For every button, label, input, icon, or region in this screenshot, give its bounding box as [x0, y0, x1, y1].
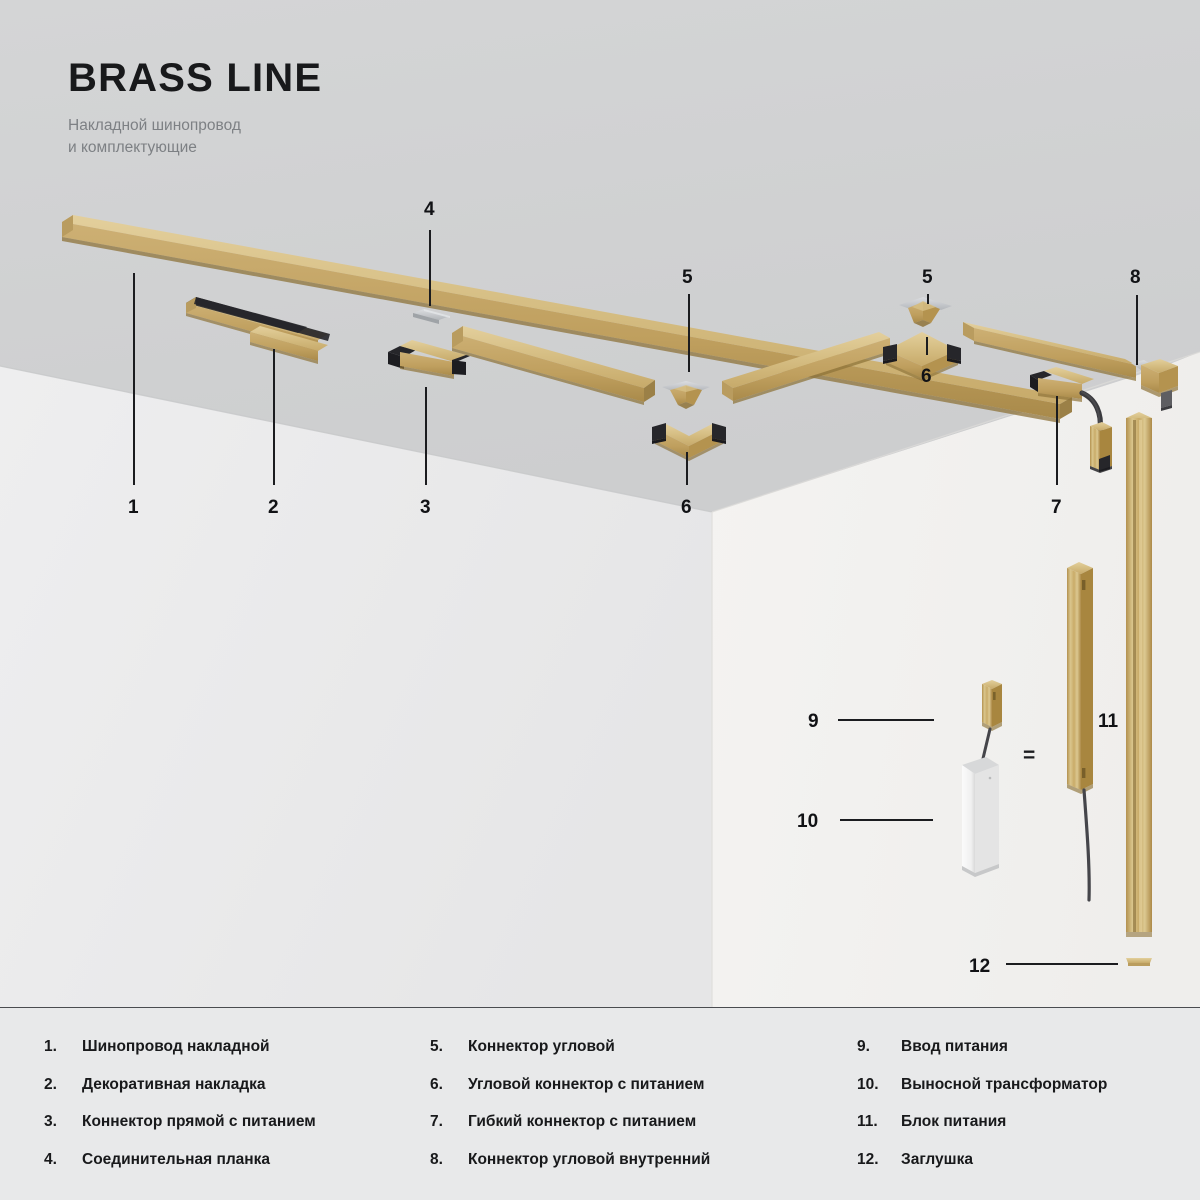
- leader-line-6a: [686, 452, 688, 485]
- legend-item: 7. Гибкий коннектор с питанием: [430, 1113, 840, 1151]
- legend-label: Декоративная накладка: [82, 1076, 266, 1094]
- legend-item: 5. Коннектор угловой: [430, 1038, 840, 1076]
- page-title: BRASS LINE: [68, 58, 322, 98]
- legend-label: Коннектор прямой с питанием: [82, 1113, 316, 1131]
- legend-item: 6. Угловой коннектор с питанием: [430, 1076, 840, 1114]
- callout-6a: 6: [681, 498, 692, 517]
- legend-number: 3.: [44, 1113, 82, 1131]
- legend-item: 2. Декоративная накладка: [44, 1076, 415, 1114]
- leader-line-4: [429, 230, 431, 306]
- leader-line-6b: [926, 337, 928, 355]
- legend-item: 8. Коннектор угловой внутренний: [430, 1151, 840, 1189]
- callout-12: 12: [969, 957, 990, 976]
- equals-sign: =: [1023, 745, 1035, 766]
- legend-label: Коннектор угловой: [468, 1038, 615, 1056]
- legend-item: 1. Шинопровод накладной: [44, 1038, 415, 1076]
- legend-number: 7.: [430, 1113, 468, 1131]
- callout-9: 9: [808, 712, 819, 731]
- legend-label: Коннектор угловой внутренний: [468, 1151, 710, 1169]
- legend-label: Ввод питания: [901, 1038, 1008, 1056]
- leader-line-5a: [688, 294, 690, 372]
- legend-label: Соединительная планка: [82, 1151, 270, 1169]
- leader-line-7: [1056, 396, 1058, 485]
- callout-3: 3: [420, 498, 431, 517]
- legend-number: 12.: [857, 1151, 901, 1169]
- callout-5b: 5: [922, 268, 933, 287]
- legend-column-2: 5. Коннектор угловой 6. Угловой коннекто…: [415, 1038, 840, 1200]
- part-end-cap: [1126, 958, 1152, 966]
- callout-1: 1: [128, 498, 139, 517]
- callout-5a: 5: [682, 268, 693, 287]
- callout-8: 8: [1130, 268, 1141, 287]
- legend-item: 4. Соединительная планка: [44, 1151, 415, 1189]
- legend-number: 1.: [44, 1038, 82, 1056]
- legend-column-1: 1. Шинопровод накладной 2. Декоративная …: [0, 1038, 415, 1200]
- legend-number: 4.: [44, 1151, 82, 1169]
- legend-item: 10. Выносной трансформатор: [857, 1076, 1200, 1114]
- leader-line-1: [133, 273, 135, 485]
- legend-label: Заглушка: [901, 1151, 973, 1169]
- callout-11: 11: [1098, 712, 1118, 731]
- leader-line-8: [1136, 295, 1138, 365]
- legend-number: 2.: [44, 1076, 82, 1094]
- legend-column-3: 9. Ввод питания 10. Выносной трансформат…: [840, 1038, 1200, 1200]
- legend-label: Угловой коннектор с питанием: [468, 1076, 704, 1094]
- leader-line-3: [425, 387, 427, 485]
- legend-label: Выносной трансформатор: [901, 1076, 1107, 1094]
- callout-7: 7: [1051, 498, 1062, 517]
- leader-line-9: [838, 719, 934, 721]
- leader-line-5b: [927, 294, 929, 304]
- legend-number: 11.: [857, 1113, 901, 1131]
- legend-number: 8.: [430, 1151, 468, 1169]
- legend-item: 11. Блок питания: [857, 1113, 1200, 1151]
- legend-label: Блок питания: [901, 1113, 1006, 1131]
- leader-line-10: [840, 819, 933, 821]
- legend-number: 10.: [857, 1076, 901, 1094]
- poster-canvas: BRASS LINE Накладной шинопровод и компле…: [0, 0, 1200, 1200]
- callout-6b: 6: [921, 367, 932, 386]
- callout-4: 4: [424, 200, 435, 219]
- legend-item: 12. Заглушка: [857, 1151, 1200, 1189]
- page-subtitle: Накладной шинопровод и комплектующие: [68, 115, 322, 160]
- leader-line-2: [273, 349, 275, 485]
- legend-number: 9.: [857, 1038, 901, 1056]
- leader-line-12: [1006, 963, 1118, 965]
- callout-10: 10: [797, 812, 818, 831]
- legend-item: 3. Коннектор прямой с питанием: [44, 1113, 415, 1151]
- legend-number: 5.: [430, 1038, 468, 1056]
- callout-2: 2: [268, 498, 279, 517]
- header-block: BRASS LINE Накладной шинопровод и компле…: [68, 58, 322, 160]
- part-track-rail-vertical: [1126, 412, 1152, 937]
- legend-label: Гибкий коннектор с питанием: [468, 1113, 696, 1131]
- legend-label: Шинопровод накладной: [82, 1038, 270, 1056]
- legend-number: 6.: [430, 1076, 468, 1094]
- legend-item: 9. Ввод питания: [857, 1038, 1200, 1076]
- legend-panel: 1. Шинопровод накладной 2. Декоративная …: [0, 1008, 1200, 1200]
